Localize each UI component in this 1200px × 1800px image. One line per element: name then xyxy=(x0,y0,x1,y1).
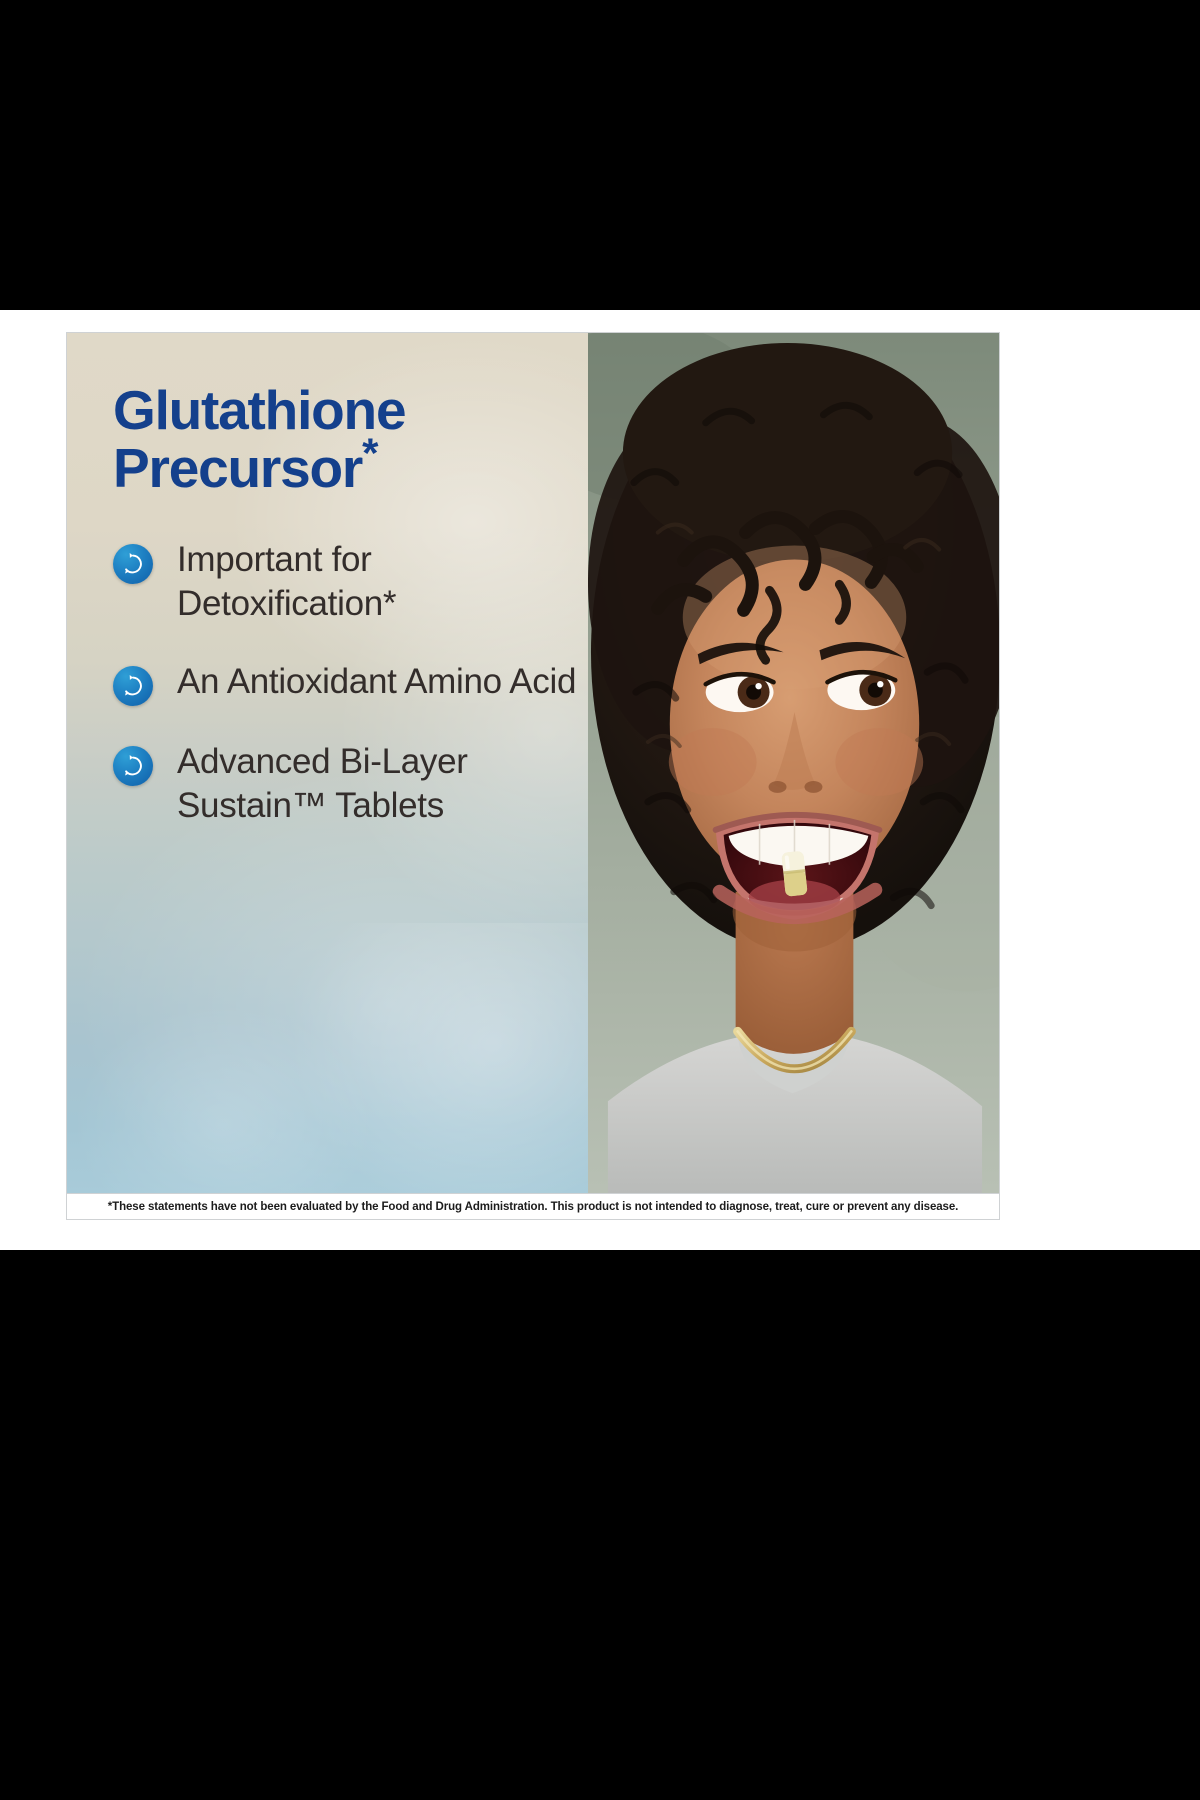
benefit-label: An Antioxidant Amino Acid xyxy=(177,660,576,704)
text-panel: Glutathione Precursor* xyxy=(67,333,588,1193)
page-title: Glutathione Precursor* xyxy=(113,381,583,498)
creative-body: Glutathione Precursor* xyxy=(67,333,999,1193)
screenshot-stage: Glutathione Precursor* xyxy=(0,0,1200,1800)
disclaimer-text: *These statements have not been evaluate… xyxy=(108,1201,958,1213)
benefit-label: Important for Detoxification* xyxy=(177,538,588,626)
cycle-arrow-icon xyxy=(113,666,153,706)
cycle-arrow-icon xyxy=(113,544,153,584)
list-item: Advanced Bi-Layer Sustain™ Tablets xyxy=(113,740,588,828)
disclaimer-bar: *These statements have not been evaluate… xyxy=(67,1193,999,1219)
woman-with-tablet-in-mouth-photo xyxy=(588,333,999,1193)
benefit-list: Important for Detoxification* xyxy=(113,538,588,828)
product-creative-card: Glutathione Precursor* xyxy=(0,310,1200,1250)
creative-frame: Glutathione Precursor* xyxy=(66,332,1000,1220)
headline-line-2: Precursor xyxy=(113,437,362,499)
list-item: An Antioxidant Amino Acid xyxy=(113,660,588,706)
cycle-arrow-icon xyxy=(113,746,153,786)
headline-asterisk: * xyxy=(362,430,377,477)
list-item: Important for Detoxification* xyxy=(113,538,588,626)
benefit-label: Advanced Bi-Layer Sustain™ Tablets xyxy=(177,740,588,828)
panel-content: Glutathione Precursor* xyxy=(67,333,588,828)
